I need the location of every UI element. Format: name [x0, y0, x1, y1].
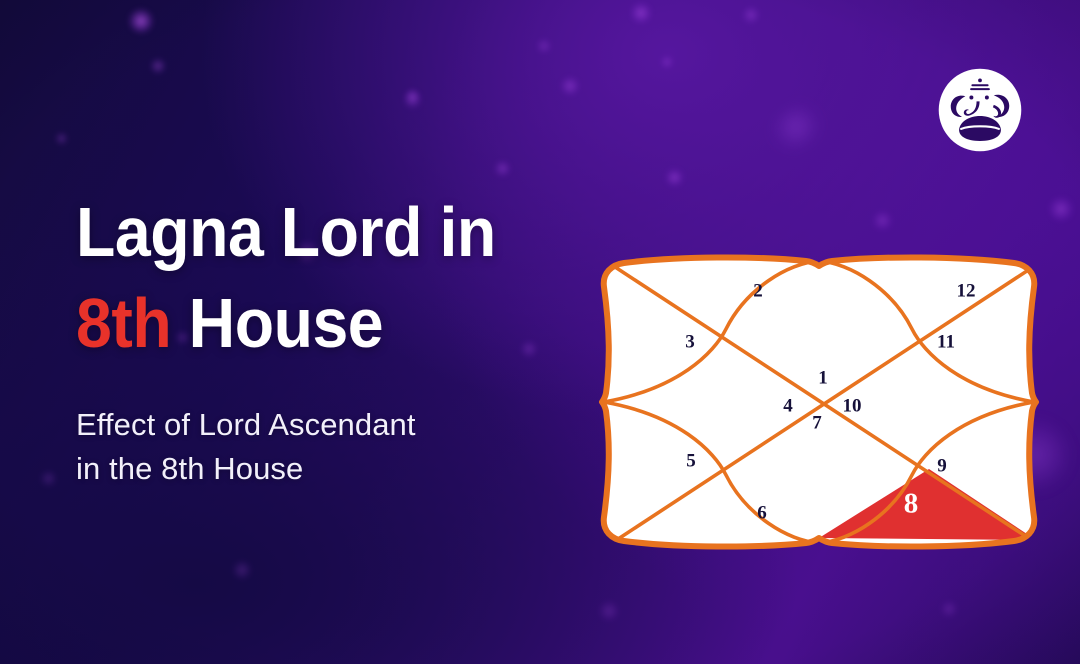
- house-number-1[interactable]: 1: [818, 367, 828, 388]
- headline-line-2: 8th House: [76, 289, 564, 358]
- house-number-9[interactable]: 9: [937, 455, 947, 476]
- ganesha-logo: [937, 67, 1023, 153]
- headline-line-1: Lagna Lord in: [76, 198, 564, 267]
- subhead: Effect of Lord Ascendantin the 8th House: [76, 403, 606, 491]
- banner-root: Lagna Lord in 8th House Effect of Lord A…: [0, 0, 1080, 664]
- house-number-8[interactable]: 8: [904, 488, 919, 520]
- headline-rest: House: [171, 284, 383, 362]
- house-number-4[interactable]: 4: [783, 395, 793, 416]
- house-number-5[interactable]: 5: [686, 450, 696, 471]
- north-indian-kundli-chart: 123456789101112: [598, 253, 1040, 548]
- house-number-6[interactable]: 6: [757, 502, 767, 523]
- house-number-7[interactable]: 7: [812, 412, 822, 433]
- house-number-3[interactable]: 3: [685, 331, 695, 352]
- subhead-line-2: in the 8th House: [76, 451, 303, 486]
- house-number-12[interactable]: 12: [957, 280, 976, 301]
- house-number-11[interactable]: 11: [937, 331, 955, 352]
- headline-accent: 8th: [76, 284, 171, 362]
- headline-block: Lagna Lord in 8th House Effect of Lord A…: [76, 198, 606, 491]
- subhead-line-1: Effect of Lord Ascendant: [76, 407, 416, 442]
- house-number-2[interactable]: 2: [753, 280, 763, 301]
- house-number-10[interactable]: 10: [843, 395, 862, 416]
